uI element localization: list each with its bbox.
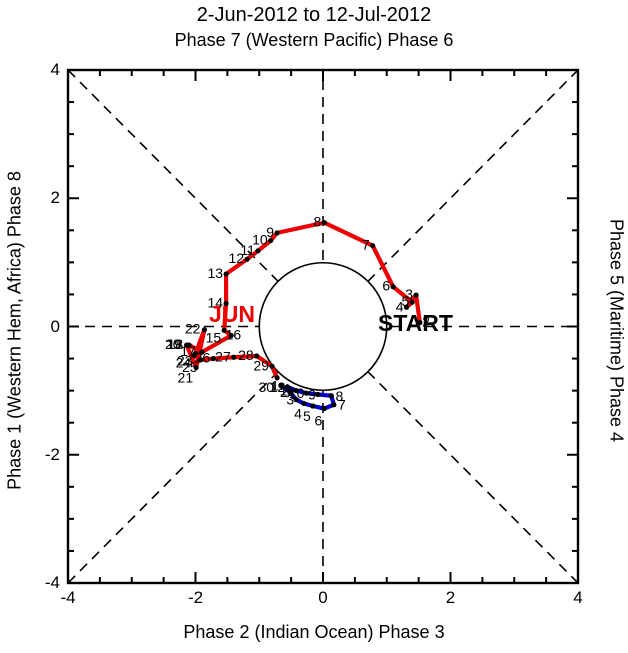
x-tick-label: 0 xyxy=(303,588,343,608)
track-point-label: 12 xyxy=(229,250,245,266)
track-point xyxy=(310,403,315,408)
track-point-label: 6 xyxy=(382,278,390,294)
track-point-label: 27 xyxy=(215,348,231,364)
track-point-label: 29 xyxy=(253,357,269,373)
y-tick-label: 2 xyxy=(18,188,60,208)
track-point-label: 4 xyxy=(294,405,302,421)
unit-circle xyxy=(259,263,387,391)
mjo-phase-diagram: 2-Jun-2012 to 12-Jul-2012 Phase 7 (Weste… xyxy=(0,0,628,653)
start-annotation: START xyxy=(378,310,453,336)
track-point-label: 26 xyxy=(195,350,211,366)
track-point xyxy=(413,292,418,297)
y-tick-label: 0 xyxy=(18,317,60,337)
track-point-label: 16 xyxy=(226,326,242,342)
track-point-label: 5 xyxy=(303,408,311,424)
x-tick-label: 2 xyxy=(431,588,471,608)
track-point xyxy=(329,393,334,398)
track-point xyxy=(315,392,320,397)
track-point-label: 13 xyxy=(208,265,224,281)
month-annotation: JUN xyxy=(209,301,255,327)
y-tick-label: 4 xyxy=(18,60,60,80)
track-point-label: 28 xyxy=(238,347,254,363)
track-point xyxy=(224,271,229,276)
track-point-label: 20 xyxy=(165,336,181,352)
track-point xyxy=(231,355,236,360)
track-point-label: 5 xyxy=(401,293,409,309)
track-point-label: 22 xyxy=(185,321,201,337)
track-point-label: 8 xyxy=(313,214,321,230)
track-point xyxy=(322,406,327,411)
track-point-label: 8 xyxy=(335,388,343,404)
plot-canvas: 2345678910111213141516171819202122232425… xyxy=(0,0,628,653)
track-point xyxy=(370,243,375,248)
track-point xyxy=(322,220,327,225)
track-point-label: 9 xyxy=(308,386,316,402)
x-tick-label: 4 xyxy=(558,588,598,608)
track-point-label: 12 xyxy=(270,379,286,395)
y-tick-label: -4 xyxy=(18,573,60,593)
track-point xyxy=(301,401,306,406)
track-point-label: 7 xyxy=(362,237,370,253)
track-point xyxy=(269,364,274,369)
x-tick-label: -2 xyxy=(176,588,216,608)
track-point xyxy=(391,284,396,289)
track-point xyxy=(255,248,260,253)
track-point-label: 6 xyxy=(314,413,322,429)
y-tick-label: -2 xyxy=(18,445,60,465)
track-point-label: 15 xyxy=(206,329,222,345)
track-point xyxy=(275,230,280,235)
